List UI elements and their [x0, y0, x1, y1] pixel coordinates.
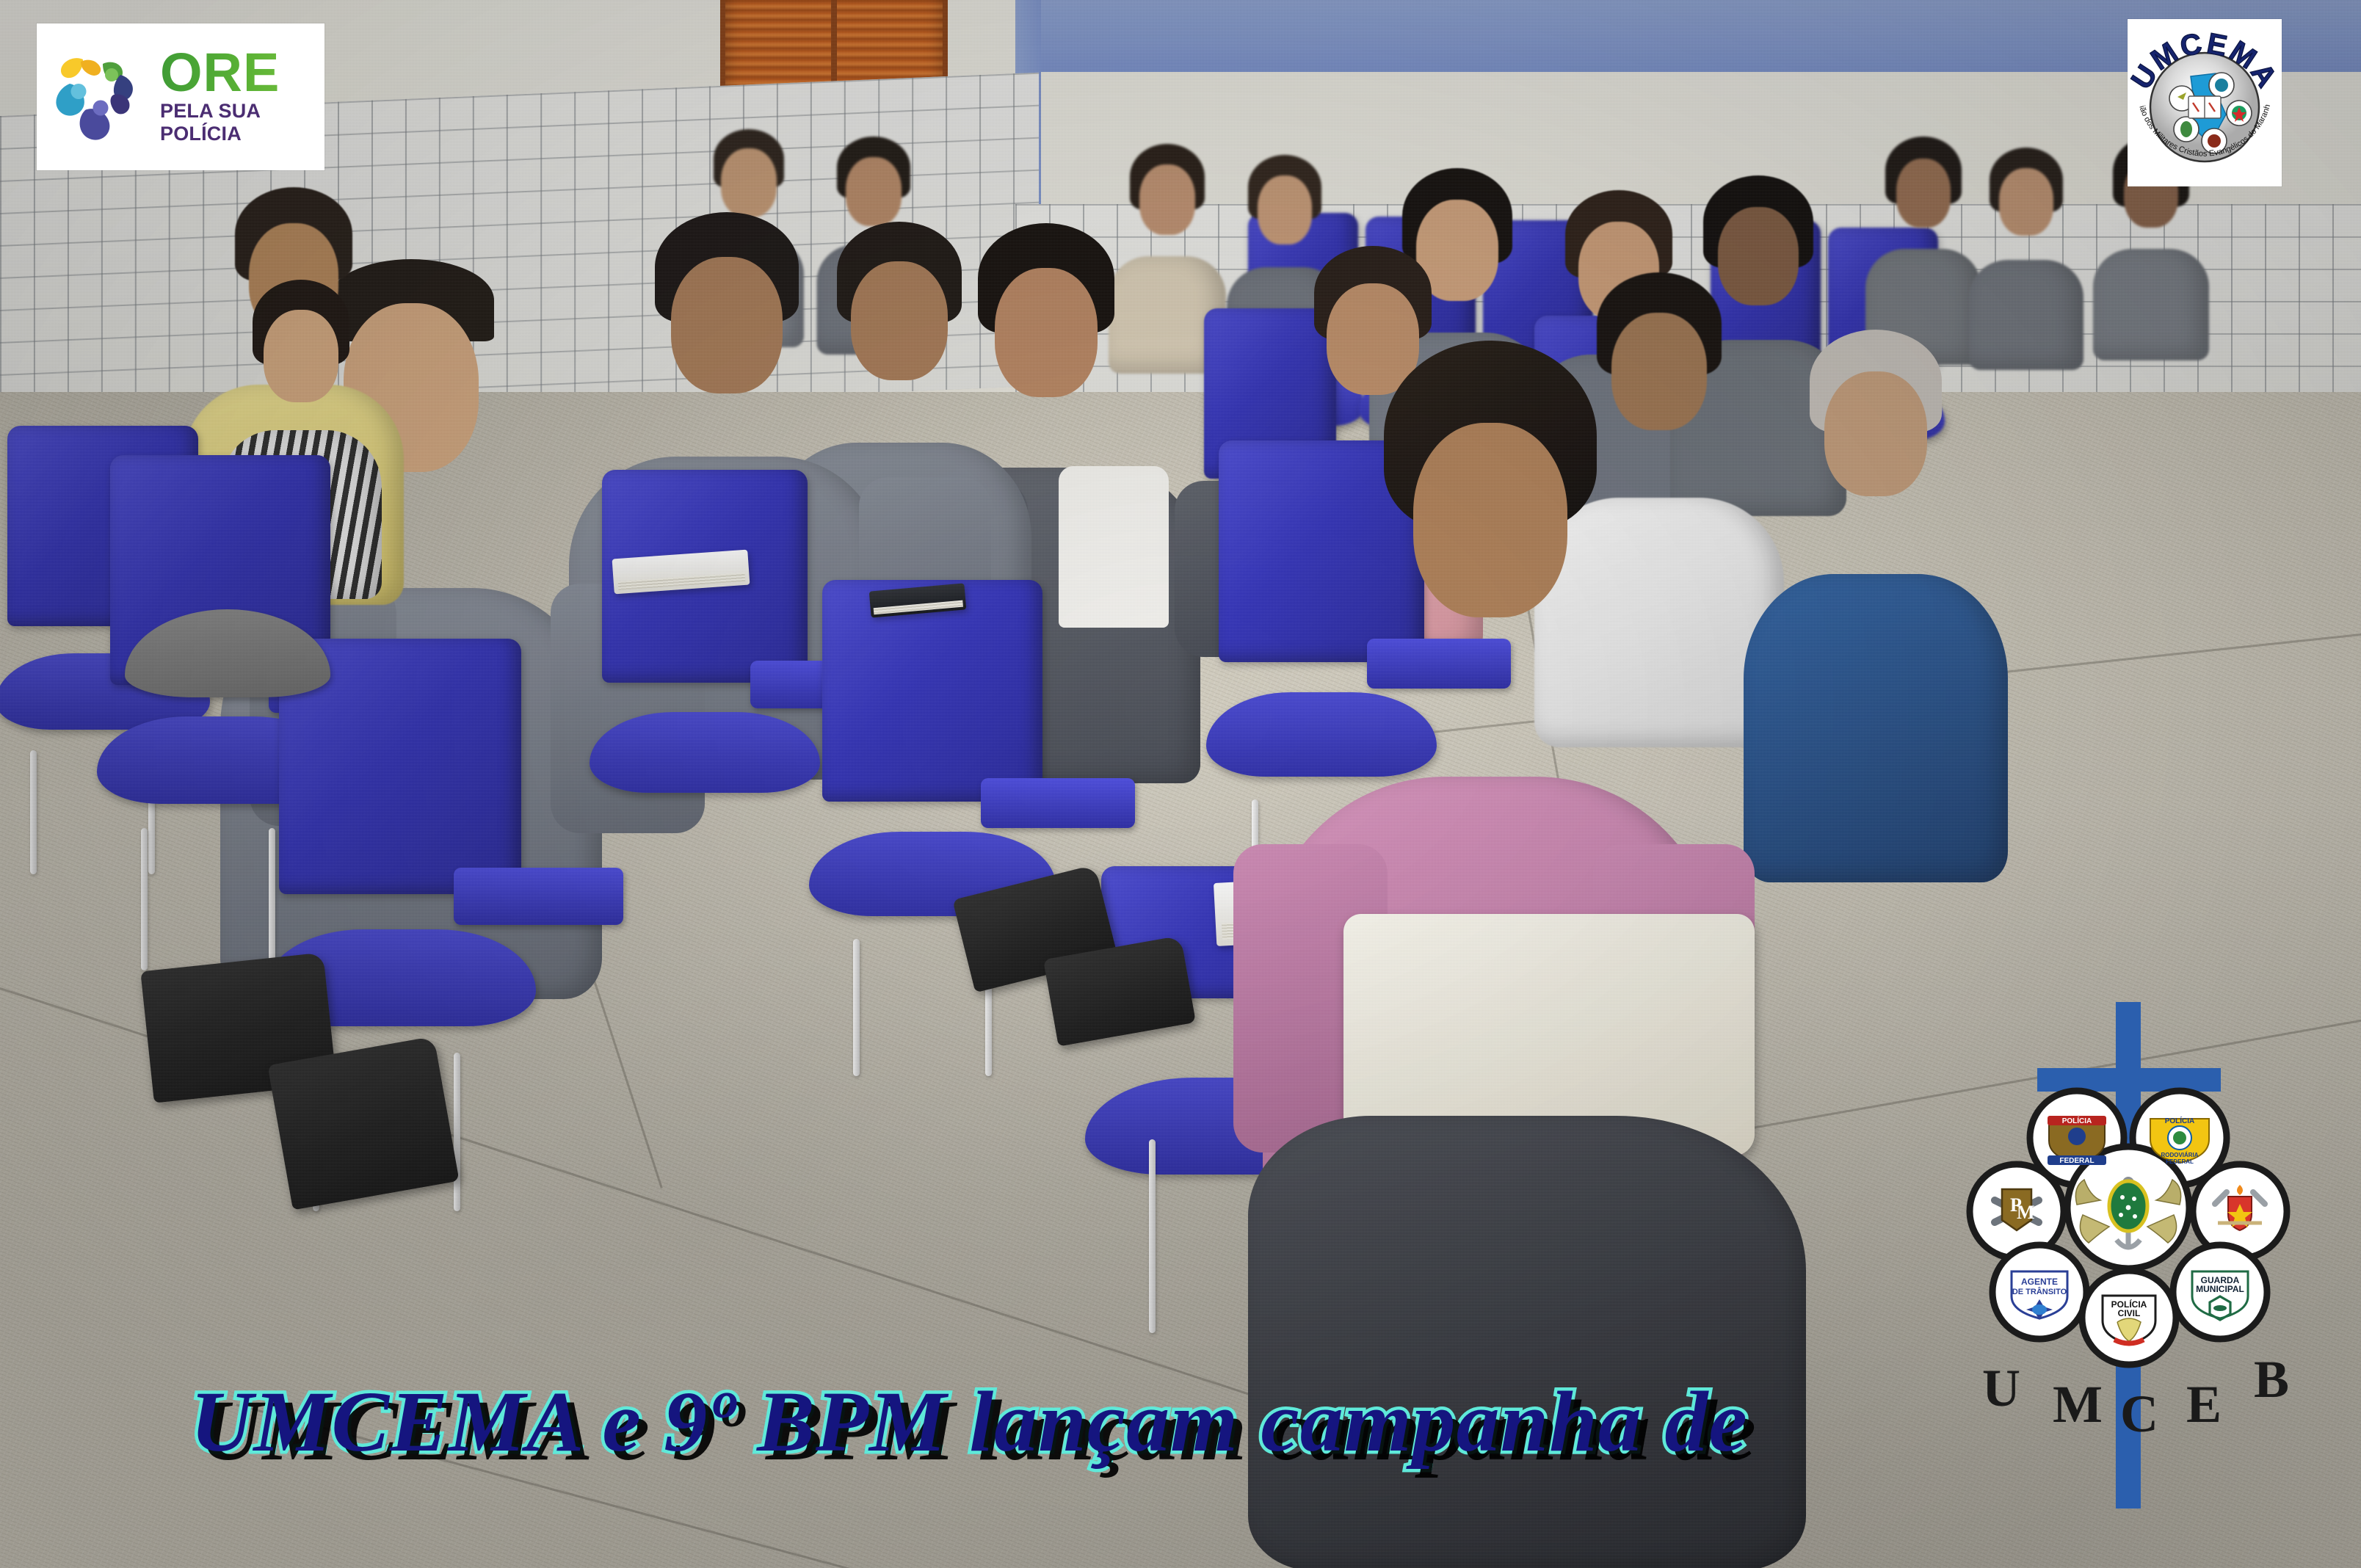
ore-people-circle-icon: [46, 42, 156, 152]
person-back-row: [1879, 147, 1968, 323]
svg-text:MUNICIPAL: MUNICIPAL: [2196, 1284, 2244, 1294]
svg-text:M: M: [2017, 1202, 2035, 1223]
chair: [602, 470, 808, 837]
ore-subtitle: PELA SUA POLÍCIA: [160, 100, 324, 145]
umceb-letter-u: U: [1982, 1359, 2020, 1418]
person-back-row: [1982, 158, 2070, 334]
umceb-letter-e: E: [2186, 1375, 2222, 1434]
svg-text:FEDERAL: FEDERAL: [2166, 1158, 2194, 1165]
svg-text:AGENTE: AGENTE: [2021, 1277, 2058, 1287]
svg-text:POLÍCIA: POLÍCIA: [2165, 1116, 2195, 1125]
photo-canvas: ORE PELA SUA POLÍCIA: [0, 0, 2361, 1568]
umcema-logo: União dos Militares Cristãos Evangélicos…: [2128, 19, 2282, 186]
svg-text:DE TRÂNSITO: DE TRÂNSITO: [2012, 1287, 2067, 1296]
svg-text:FEDERAL: FEDERAL: [2059, 1157, 2094, 1165]
black-combat-boots: [267, 1037, 459, 1211]
svg-text:CIVIL: CIVIL: [2118, 1308, 2141, 1318]
umceb-letter-c: C: [2120, 1384, 2158, 1443]
caption-line-1: UMCEMA e 9º BPM lançam campanha de: [44, 1366, 1894, 1477]
elderly-woman: [1791, 352, 1960, 734]
umceb-letter-m: M: [2053, 1375, 2103, 1434]
ore-logo: ORE PELA SUA POLÍCIA: [37, 23, 324, 170]
svg-text:RODOVIÁRIA: RODOVIÁRIA: [2161, 1152, 2198, 1158]
person-back-row: [1123, 154, 1211, 330]
ore-wordmark: ORE: [160, 48, 324, 98]
svg-text:POLÍCIA: POLÍCIA: [2062, 1116, 2092, 1125]
umcema-seal-icon: União dos Militares Cristãos Evangélicos…: [2128, 19, 2282, 186]
umceb-badge-cluster-icon: POLÍCIA FEDERAL POLÍCIA RODOVIÁRIA FEDER…: [1909, 987, 2349, 1560]
umceb-logo: POLÍCIA FEDERAL POLÍCIA RODOVIÁRIA FEDER…: [1909, 987, 2349, 1560]
umceb-letter-b: B: [2254, 1350, 2289, 1409]
caption-overlay: UMCEMA e 9º BPM lançam campanha de Oraçã…: [44, 1255, 1894, 1568]
